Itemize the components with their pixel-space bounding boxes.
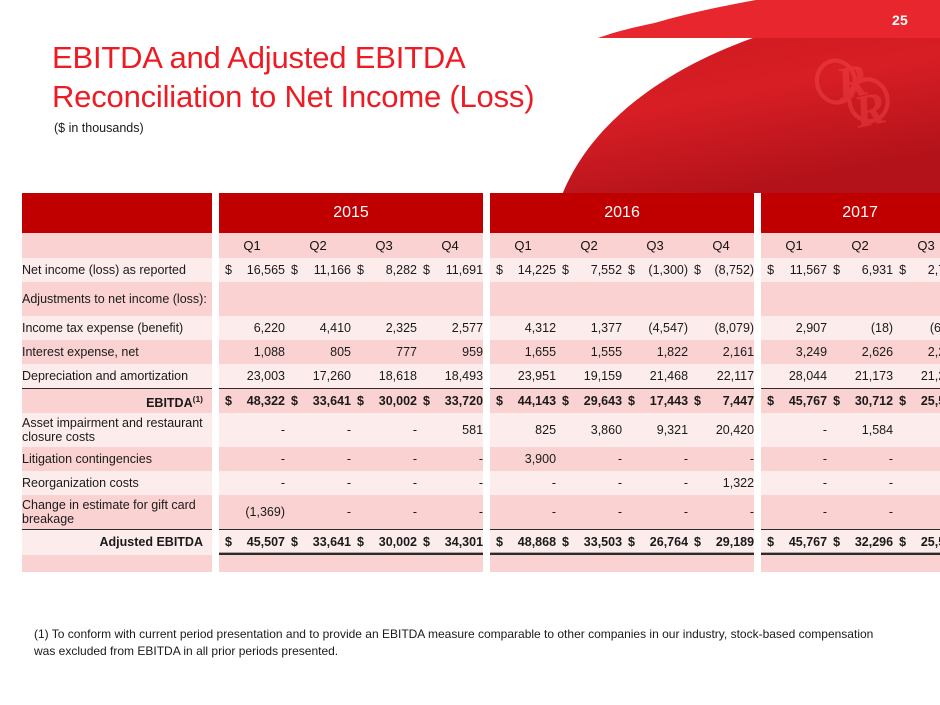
svg-text:R: R xyxy=(848,82,890,138)
data-cell: $33,641 xyxy=(285,389,351,414)
data-cell: 777 xyxy=(351,340,417,364)
data-cell: - xyxy=(285,471,351,495)
data-cell: - xyxy=(827,447,893,471)
data-cell: $11,166 xyxy=(285,258,351,282)
quarter-header-2015-Q3: Q3 xyxy=(351,233,417,258)
data-cell: 3,249 xyxy=(761,340,827,364)
data-cell: - xyxy=(351,471,417,495)
row-label: Litigation contingencies xyxy=(22,447,212,471)
rr-logo-watermark: R R xyxy=(812,50,892,138)
table-row: Adjustments to net income (loss): xyxy=(22,282,940,316)
data-cell: - xyxy=(285,413,351,447)
data-cell: $16,565 xyxy=(219,258,285,282)
quarter-header-2015-Q2: Q2 xyxy=(285,233,351,258)
data-cell: $33,720 xyxy=(417,389,483,414)
data-cell: - xyxy=(688,447,754,471)
group-gap xyxy=(212,471,219,495)
group-gap xyxy=(483,555,490,573)
group-gap xyxy=(483,364,490,389)
group-gap xyxy=(483,447,490,471)
data-cell: $(8,752) xyxy=(688,258,754,282)
data-cell: 2,325 xyxy=(351,316,417,340)
group-gap xyxy=(212,340,219,364)
year-header-2017: 2017 xyxy=(761,193,940,233)
data-cell: - xyxy=(622,471,688,495)
table-row: Adjusted EBITDA$45,507$33,641$30,002$34,… xyxy=(22,530,940,555)
data-cell xyxy=(893,555,940,573)
data-cell xyxy=(688,282,754,316)
quarter-header-2016-Q1: Q1 xyxy=(490,233,556,258)
quarter-header-2015-Q4: Q4 xyxy=(417,233,483,258)
data-cell: (8,079) xyxy=(688,316,754,340)
row-label: Change in estimate for gift card breakag… xyxy=(22,495,212,530)
row-label: Income tax expense (benefit) xyxy=(22,316,212,340)
data-cell: - xyxy=(351,495,417,530)
data-cell: $30,002 xyxy=(351,530,417,555)
data-cell xyxy=(761,555,827,573)
table-row: Interest expense, net1,0888057779591,655… xyxy=(22,340,940,364)
data-cell: - xyxy=(622,495,688,530)
data-cell: $45,767 xyxy=(761,530,827,555)
group-gap xyxy=(483,413,490,447)
data-cell: 2,577 xyxy=(417,316,483,340)
data-cell xyxy=(622,282,688,316)
data-cell: 825 xyxy=(490,413,556,447)
data-cell: - xyxy=(285,447,351,471)
data-cell xyxy=(556,282,622,316)
data-cell: - xyxy=(622,447,688,471)
group-gap xyxy=(483,233,490,258)
data-cell: 2,626 xyxy=(827,340,893,364)
data-cell: $(1,300) xyxy=(622,258,688,282)
data-cell: - xyxy=(827,471,893,495)
year-header-spacer xyxy=(22,193,212,233)
data-cell: - xyxy=(556,447,622,471)
data-cell: 18,493 xyxy=(417,364,483,389)
data-cell xyxy=(285,282,351,316)
table-row: EBITDA(1)$48,322$33,641$30,002$33,720$44… xyxy=(22,389,940,414)
data-cell: - xyxy=(556,495,622,530)
data-cell: (690) xyxy=(893,316,940,340)
data-cell: 23,003 xyxy=(219,364,285,389)
data-cell: 4,410 xyxy=(285,316,351,340)
data-cell: 3,860 xyxy=(556,413,622,447)
data-cell xyxy=(827,555,893,573)
group-gap xyxy=(754,193,761,233)
data-cell: $8,282 xyxy=(351,258,417,282)
data-cell xyxy=(893,282,940,316)
data-cell: - xyxy=(417,447,483,471)
data-cell: $48,868 xyxy=(490,530,556,555)
data-cell: - xyxy=(285,495,351,530)
data-cell xyxy=(417,282,483,316)
quarter-header-2016-Q3: Q3 xyxy=(622,233,688,258)
data-cell: - xyxy=(219,471,285,495)
data-cell: $2,714 xyxy=(893,258,940,282)
data-cell: - xyxy=(351,413,417,447)
row-label: Adjustments to net income (loss): xyxy=(22,282,212,316)
data-cell: 1,555 xyxy=(556,340,622,364)
data-cell: 3,900 xyxy=(490,447,556,471)
group-gap xyxy=(212,389,219,414)
group-gap xyxy=(754,316,761,340)
group-gap xyxy=(754,495,761,530)
swoosh-lower xyxy=(560,0,940,200)
table-head: 201520162017 Q1Q2Q3Q4Q1Q2Q3Q4Q1Q2Q3 xyxy=(22,193,940,258)
row-label: Adjusted EBITDA xyxy=(22,530,212,555)
row-label: Depreciation and amortization xyxy=(22,364,212,389)
footnote: (1) To conform with current period prese… xyxy=(34,626,894,660)
data-cell: 21,468 xyxy=(622,364,688,389)
data-cell: 23,951 xyxy=(490,364,556,389)
row-label: Interest expense, net xyxy=(22,340,212,364)
group-gap xyxy=(754,413,761,447)
group-gap xyxy=(212,555,219,573)
data-cell: 581 xyxy=(417,413,483,447)
data-cell: - xyxy=(688,495,754,530)
group-gap xyxy=(212,282,219,316)
data-cell: $6,931 xyxy=(827,258,893,282)
group-gap xyxy=(754,233,761,258)
table-row: Change in estimate for gift card breakag… xyxy=(22,495,940,530)
data-cell: 2,907 xyxy=(761,316,827,340)
data-cell: - xyxy=(219,413,285,447)
group-gap xyxy=(483,495,490,530)
row-label: EBITDA(1) xyxy=(22,389,212,414)
svg-text:R: R xyxy=(830,54,872,110)
quarter-header-2017-Q1: Q1 xyxy=(761,233,827,258)
quarter-header-2015-Q1: Q1 xyxy=(219,233,285,258)
units-subtitle: ($ in thousands) xyxy=(54,121,534,135)
data-cell: - xyxy=(417,471,483,495)
group-gap xyxy=(483,340,490,364)
table-row: Net income (loss) as reported$16,565$11,… xyxy=(22,258,940,282)
row-label: Reorganization costs xyxy=(22,471,212,495)
group-gap xyxy=(754,471,761,495)
data-cell xyxy=(219,555,285,573)
ebitda-reconciliation-table: 201520162017 Q1Q2Q3Q4Q1Q2Q3Q4Q1Q2Q3 Net … xyxy=(22,193,940,572)
table-row: Litigation contingencies----3,900------ xyxy=(22,447,940,471)
data-cell: 959 xyxy=(417,340,483,364)
data-cell xyxy=(351,282,417,316)
data-cell: - xyxy=(490,471,556,495)
table-body: Net income (loss) as reported$16,565$11,… xyxy=(22,258,940,572)
group-gap xyxy=(483,316,490,340)
data-cell: 18,618 xyxy=(351,364,417,389)
year-header-2016: 2016 xyxy=(490,193,754,233)
data-cell: $45,507 xyxy=(219,530,285,555)
data-cell xyxy=(622,555,688,573)
group-gap xyxy=(212,495,219,530)
data-cell: $33,641 xyxy=(285,530,351,555)
table-row: Income tax expense (benefit)6,2204,4102,… xyxy=(22,316,940,340)
data-cell xyxy=(688,555,754,573)
row-label: Net income (loss) as reported xyxy=(22,258,212,282)
quarter-header-2017-Q2: Q2 xyxy=(827,233,893,258)
data-cell: $29,189 xyxy=(688,530,754,555)
table-row: Asset impairment and restaurant closure … xyxy=(22,413,940,447)
quarter-header-2016-Q4: Q4 xyxy=(688,233,754,258)
data-cell: $25,504 xyxy=(893,389,940,414)
group-gap xyxy=(212,447,219,471)
title-block: EBITDA and Adjusted EBITDA Reconciliatio… xyxy=(52,38,534,135)
group-gap xyxy=(754,282,761,316)
data-cell: 1,584 xyxy=(827,413,893,447)
data-cell: $29,643 xyxy=(556,389,622,414)
data-cell: - xyxy=(893,447,940,471)
data-cell: $26,764 xyxy=(622,530,688,555)
data-cell xyxy=(417,555,483,573)
group-gap xyxy=(754,258,761,282)
year-header-row: 201520162017 xyxy=(22,193,940,233)
financial-table-wrap: 201520162017 Q1Q2Q3Q4Q1Q2Q3Q4Q1Q2Q3 Net … xyxy=(22,193,912,572)
data-cell: 28,044 xyxy=(761,364,827,389)
quarter-header-row: Q1Q2Q3Q4Q1Q2Q3Q4Q1Q2Q3 xyxy=(22,233,940,258)
data-cell xyxy=(285,555,351,573)
year-header-2015: 2015 xyxy=(219,193,483,233)
data-cell: 20,420 xyxy=(688,413,754,447)
data-cell: $25,504 xyxy=(893,530,940,555)
group-gap xyxy=(754,447,761,471)
row-label: Asset impairment and restaurant closure … xyxy=(22,413,212,447)
data-cell: - xyxy=(219,447,285,471)
row-label xyxy=(22,555,212,573)
data-cell: 22,117 xyxy=(688,364,754,389)
data-cell: $44,143 xyxy=(490,389,556,414)
data-cell: - xyxy=(556,471,622,495)
data-cell: $48,322 xyxy=(219,389,285,414)
group-gap xyxy=(212,258,219,282)
data-cell: (18) xyxy=(827,316,893,340)
data-cell: - xyxy=(893,471,940,495)
data-cell: 4,312 xyxy=(490,316,556,340)
group-gap xyxy=(212,193,219,233)
group-gap xyxy=(483,530,490,555)
data-cell: 2,161 xyxy=(688,340,754,364)
group-gap xyxy=(483,258,490,282)
data-cell: - xyxy=(893,413,940,447)
data-cell: 2,222 xyxy=(893,340,940,364)
data-cell xyxy=(761,282,827,316)
data-cell: $34,301 xyxy=(417,530,483,555)
data-cell: $33,503 xyxy=(556,530,622,555)
group-gap xyxy=(212,364,219,389)
data-cell: - xyxy=(761,495,827,530)
data-cell: $30,002 xyxy=(351,389,417,414)
data-cell: $32,296 xyxy=(827,530,893,555)
data-cell: $17,443 xyxy=(622,389,688,414)
data-cell: 21,173 xyxy=(827,364,893,389)
swoosh-top-band xyxy=(598,0,940,38)
data-cell: 805 xyxy=(285,340,351,364)
data-cell: (1,369) xyxy=(219,495,285,530)
group-gap xyxy=(212,316,219,340)
group-gap xyxy=(212,413,219,447)
page-title: EBITDA and Adjusted EBITDA Reconciliatio… xyxy=(52,38,534,116)
data-cell xyxy=(490,282,556,316)
page-number: 25 xyxy=(892,12,908,28)
data-cell: - xyxy=(417,495,483,530)
data-cell: $45,767 xyxy=(761,389,827,414)
quarter-header-2016-Q2: Q2 xyxy=(556,233,622,258)
data-cell: 9,321 xyxy=(622,413,688,447)
table-row: Reorganization costs-------1,322--- xyxy=(22,471,940,495)
group-gap xyxy=(754,340,761,364)
table-row: Depreciation and amortization23,00317,26… xyxy=(22,364,940,389)
data-cell: 1,822 xyxy=(622,340,688,364)
data-cell: 6,220 xyxy=(219,316,285,340)
data-cell: $14,225 xyxy=(490,258,556,282)
data-cell: - xyxy=(761,471,827,495)
data-cell: 17,260 xyxy=(285,364,351,389)
data-cell: $7,552 xyxy=(556,258,622,282)
group-gap xyxy=(483,389,490,414)
data-cell xyxy=(827,282,893,316)
data-cell: - xyxy=(893,495,940,530)
data-cell: 1,088 xyxy=(219,340,285,364)
data-cell: - xyxy=(351,447,417,471)
data-cell xyxy=(351,555,417,573)
group-gap xyxy=(754,555,761,573)
group-gap xyxy=(754,364,761,389)
data-cell xyxy=(219,282,285,316)
data-cell: 1,322 xyxy=(688,471,754,495)
data-cell xyxy=(556,555,622,573)
quarter-header-2017-Q3: Q3 xyxy=(893,233,940,258)
data-cell: $11,691 xyxy=(417,258,483,282)
data-cell: $30,712 xyxy=(827,389,893,414)
data-cell: 19,159 xyxy=(556,364,622,389)
data-cell: - xyxy=(761,447,827,471)
data-cell: $7,447 xyxy=(688,389,754,414)
data-cell: 1,377 xyxy=(556,316,622,340)
group-gap xyxy=(483,471,490,495)
data-cell: - xyxy=(827,495,893,530)
data-cell: $11,567 xyxy=(761,258,827,282)
data-cell: 1,655 xyxy=(490,340,556,364)
data-cell: - xyxy=(761,413,827,447)
data-cell: - xyxy=(490,495,556,530)
group-gap xyxy=(212,530,219,555)
group-gap xyxy=(754,530,761,555)
group-gap xyxy=(212,233,219,258)
group-gap xyxy=(483,193,490,233)
table-row-trailing xyxy=(22,555,940,573)
group-gap xyxy=(754,389,761,414)
data-cell: 21,258 xyxy=(893,364,940,389)
quarter-header-spacer xyxy=(22,233,212,258)
data-cell: (4,547) xyxy=(622,316,688,340)
data-cell xyxy=(490,555,556,573)
group-gap xyxy=(483,282,490,316)
